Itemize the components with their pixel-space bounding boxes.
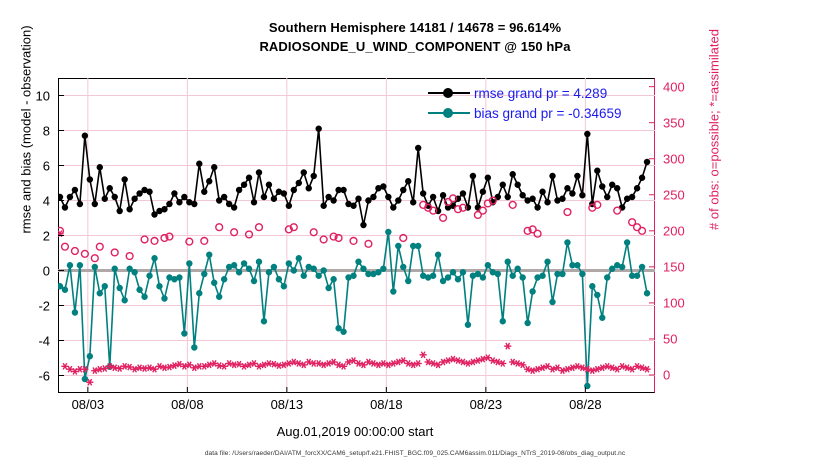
- x-axis-label: Aug.01,2019 00:00:00 start: [0, 424, 710, 439]
- figure-canvas: Southern Hemisphere 14181 / 14678 = 96.6…: [0, 0, 830, 470]
- y-tick-left--6: -6: [6, 368, 50, 383]
- y-axis-right-label: # of obs: o=possible; *=assimilated: [707, 0, 722, 265]
- legend-marker-rmse: [428, 86, 470, 100]
- y-tick-right-200: 200: [663, 223, 685, 238]
- y-axis-left-label: rmse and bias (model - observation): [19, 0, 34, 260]
- y-tick-left--2: -2: [6, 298, 50, 313]
- x-tick-08/08: 08/08: [171, 397, 204, 412]
- y-tick-right-350: 350: [663, 115, 685, 130]
- y-tick-right-0: 0: [663, 367, 670, 382]
- chart-legend: rmse grand pr = 4.289 bias grand pr = -0…: [424, 80, 627, 126]
- y-tick-right-300: 300: [663, 151, 685, 166]
- x-tick-08/03: 08/03: [72, 397, 105, 412]
- y-tick-right-250: 250: [663, 187, 685, 202]
- legend-marker-bias: [428, 106, 470, 120]
- title-line-2: RADIOSONDE_U_WIND_COMPONENT @ 150 hPa: [0, 37, 830, 56]
- y-tick-right-150: 150: [663, 259, 685, 274]
- y-tick-right-50: 50: [663, 331, 677, 346]
- title-line-1: Southern Hemisphere 14181 / 14678 = 96.6…: [0, 18, 830, 37]
- chart-title: Southern Hemisphere 14181 / 14678 = 96.6…: [0, 18, 830, 56]
- y-tick-left-0: 0: [6, 263, 50, 278]
- x-tick-08/23: 08/23: [470, 397, 503, 412]
- y-tick-left--4: -4: [6, 333, 50, 348]
- x-tick-08/18: 08/18: [370, 397, 403, 412]
- x-tick-08/13: 08/13: [271, 397, 304, 412]
- legend-label-bias: bias grand pr = -0.34659: [474, 106, 621, 121]
- legend-item-bias: bias grand pr = -0.34659: [428, 103, 621, 123]
- data-file-path: data file: /Users/raeder/DAI/ATM_forcXX/…: [0, 450, 830, 457]
- legend-label-rmse: rmse grand pr = 4.289: [474, 86, 607, 101]
- y-tick-right-100: 100: [663, 295, 685, 310]
- y-tick-right-400: 400: [663, 79, 685, 94]
- legend-item-rmse: rmse grand pr = 4.289: [428, 83, 621, 103]
- x-tick-08/28: 08/28: [569, 397, 602, 412]
